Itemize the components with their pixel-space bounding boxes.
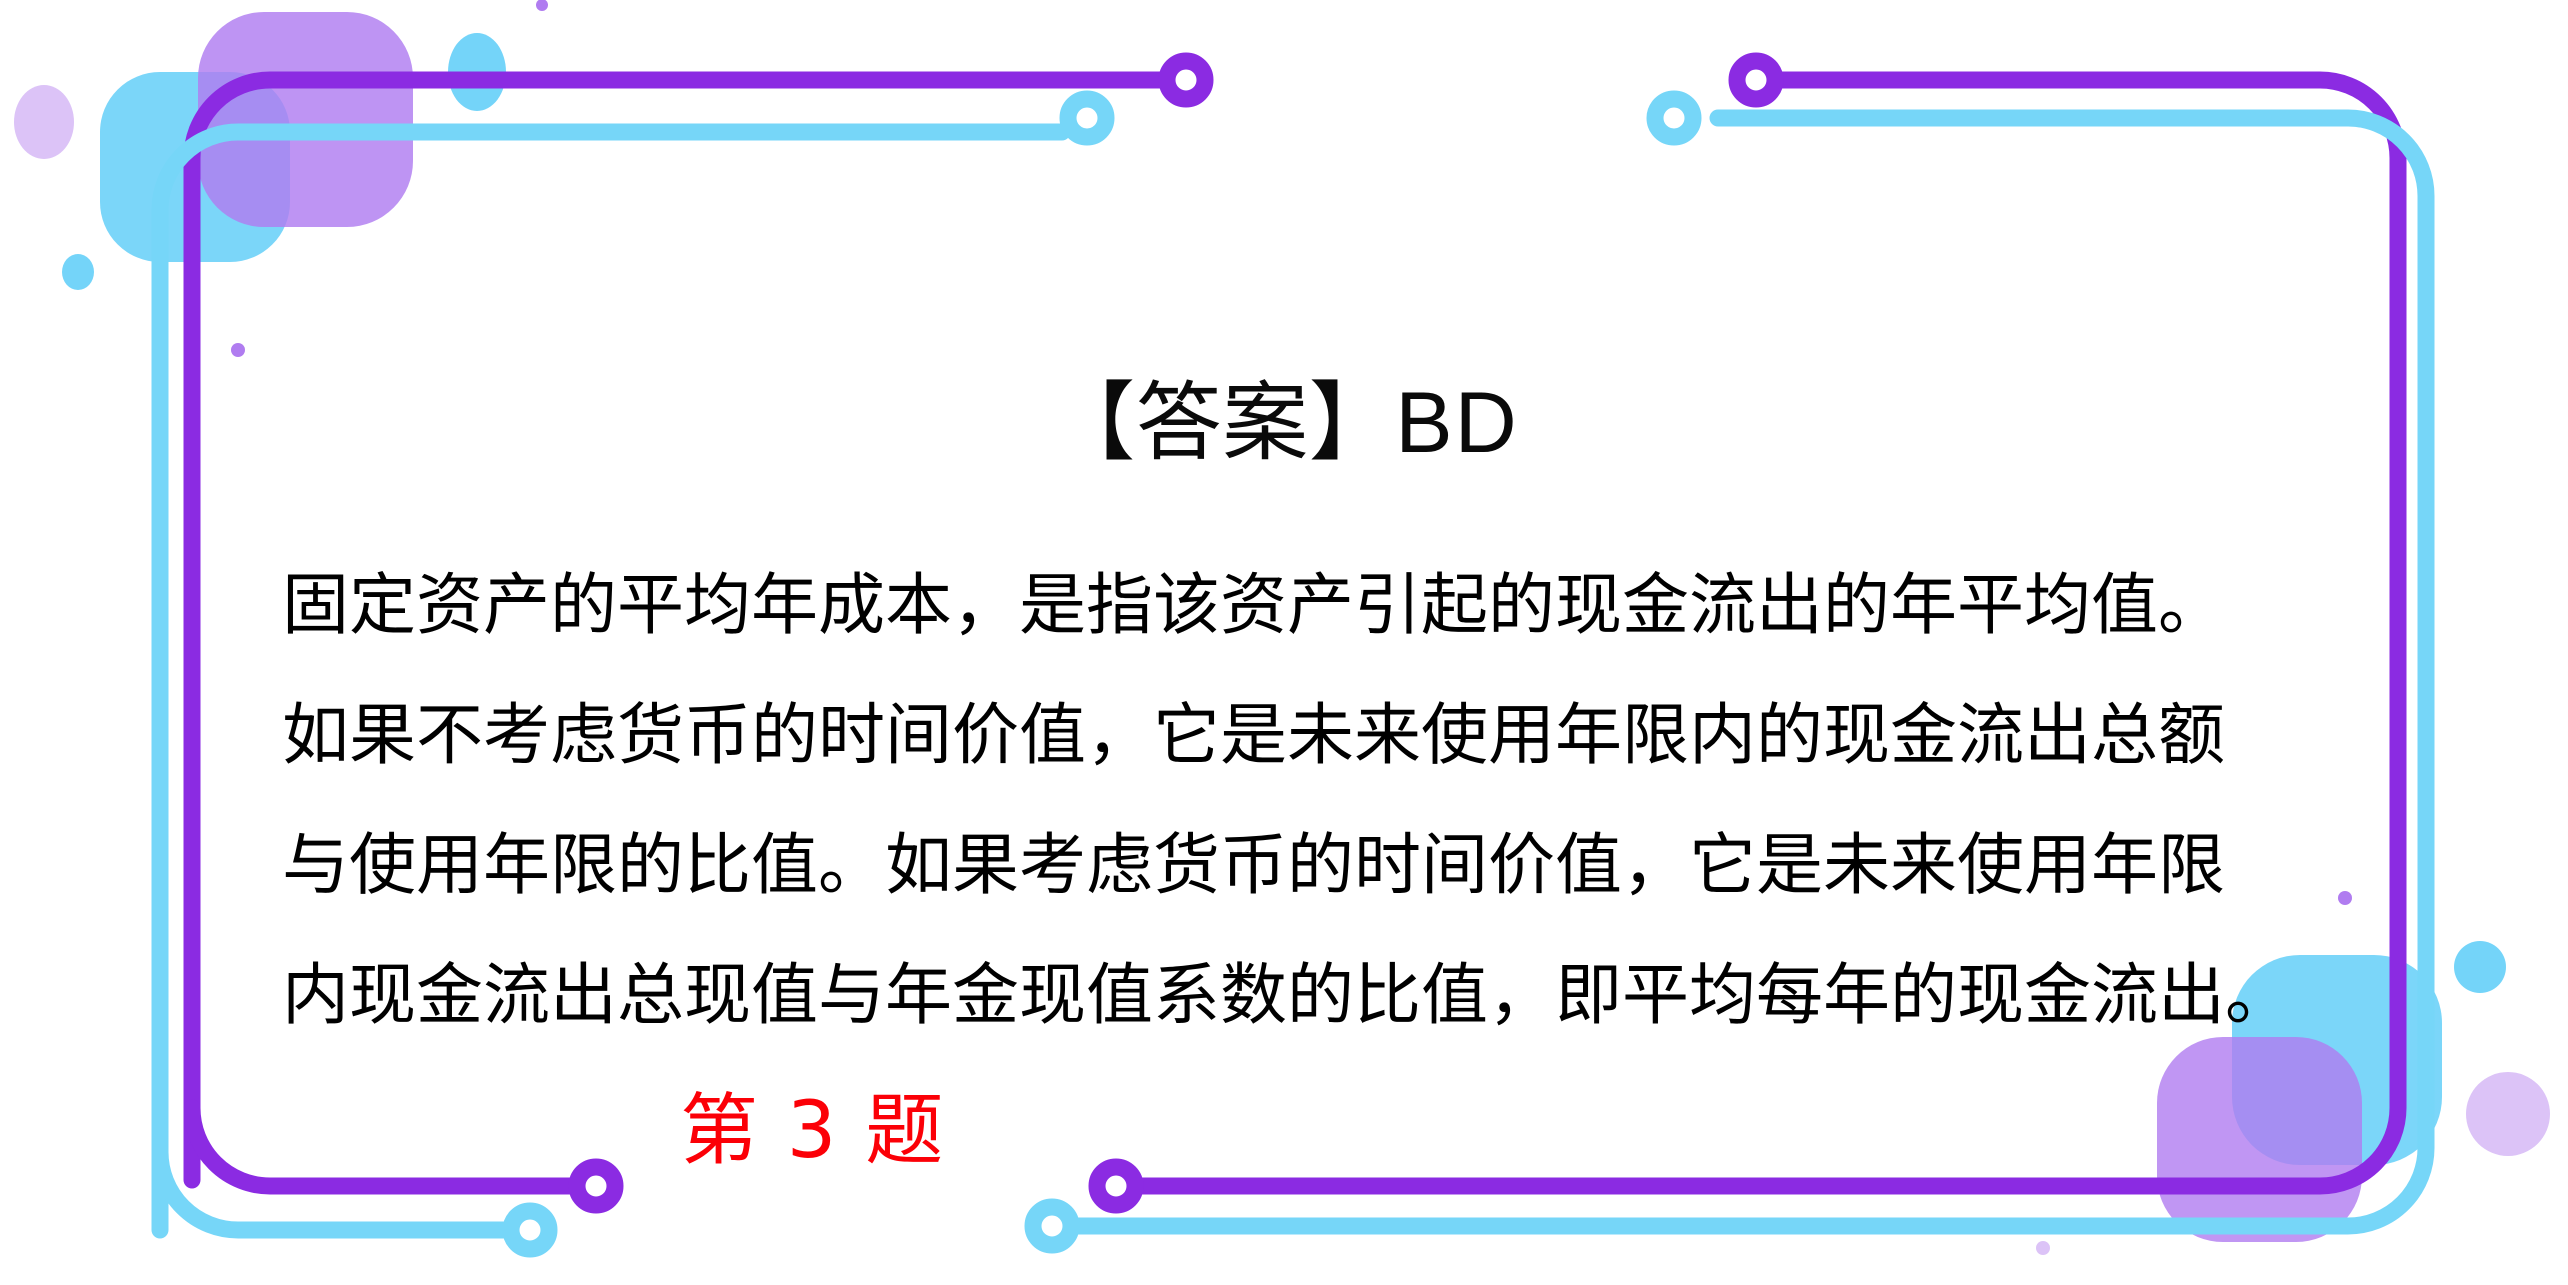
explanation-line-2: 如果不考虑货币的时间价值，它是未来使用年限内的现金流出总额: [282, 670, 2292, 800]
explanation-line-1: 固定资产的平均年成本，是指该资产引起的现金流出的年平均值。: [282, 540, 2292, 670]
question-number-label: 第 3 题: [680, 1092, 945, 1170]
answer-label: 【答案】: [1049, 373, 1395, 473]
explanation-line-3: 与使用年限的比值。如果考虑货币的时间价值，它是未来使用年限: [282, 800, 2292, 930]
slide-canvas: 【答案】BD 固定资产的平均年成本，是指该资产引起的现金流出的年平均值。 如果不…: [0, 0, 2568, 1285]
explanation-paragraph: 固定资产的平均年成本，是指该资产引起的现金流出的年平均值。 如果不考虑货币的时间…: [282, 540, 2292, 1060]
answer-options: BD: [1395, 375, 1518, 471]
explanation-line-4: 内现金流出总现值与年金现值系数的比值，即平均每年的现金流出。: [282, 930, 2292, 1060]
answer-title: 【答案】BD: [0, 378, 2568, 468]
